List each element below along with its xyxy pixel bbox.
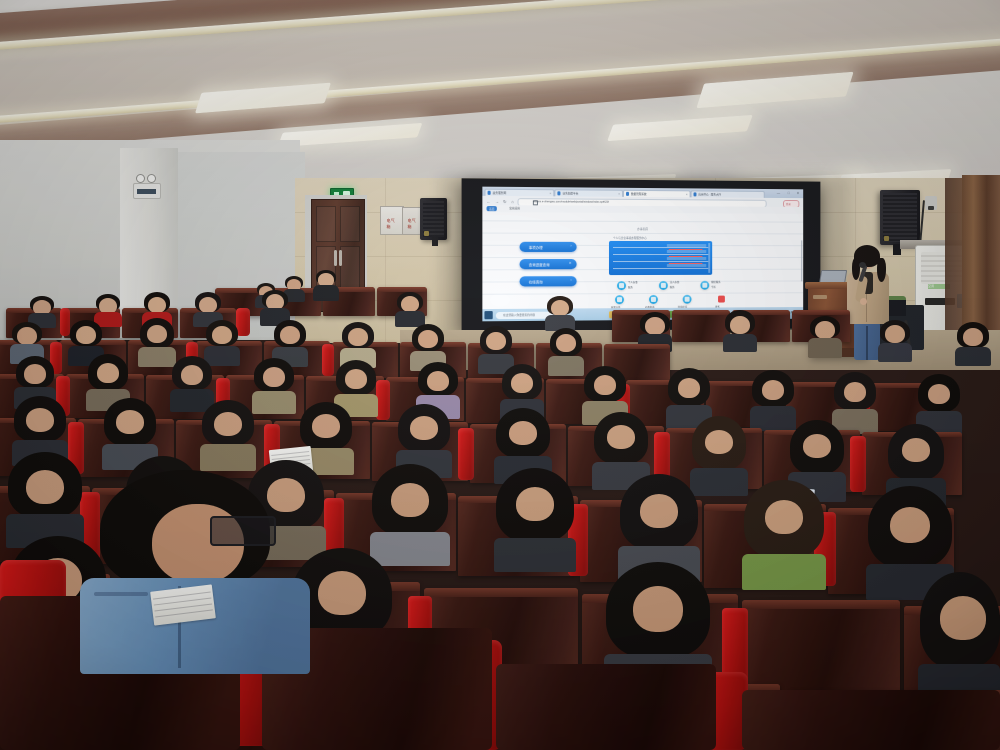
close-icon[interactable]: ×	[549, 191, 551, 195]
forward-icon[interactable]: →	[495, 199, 499, 204]
button-label: 在线咨询	[529, 279, 543, 284]
attendee	[313, 270, 339, 300]
service-label: 法人办事	[670, 280, 679, 284]
handheld-microphone	[859, 262, 866, 268]
electrical-box: 电气箱	[402, 207, 422, 235]
tab-title: 应用中心 · 服务大厅	[698, 192, 721, 196]
speaker-mount	[432, 237, 438, 246]
service-sublabel: 服务	[670, 285, 675, 289]
attendee	[395, 292, 425, 326]
service-icon-personal[interactable]	[617, 281, 626, 290]
seat-back-front	[742, 690, 1000, 750]
action-button-consult[interactable]: 在线咨询 ›	[520, 276, 577, 286]
action-button-handle[interactable]: 事项办理 ›	[520, 242, 577, 252]
chevron-right-icon: ›	[570, 279, 571, 283]
tab-favicon	[626, 192, 630, 196]
button-label: 查询进度查询	[529, 262, 550, 267]
button-label: 事项办理	[529, 244, 543, 249]
electrical-box-label: 电气箱	[387, 218, 398, 230]
service-sublabel: 服务	[628, 285, 633, 289]
close-window-icon[interactable]: ✕	[797, 191, 800, 195]
electrical-box: 电气箱	[380, 206, 404, 235]
highlighted-table[interactable]	[609, 241, 712, 275]
tab-title: 业务办理平台	[562, 191, 578, 195]
service-label: 个人办事	[628, 280, 638, 284]
foreground-attendee	[60, 470, 340, 670]
chevron-right-icon: ›	[570, 244, 571, 248]
close-icon[interactable]: ×	[686, 192, 688, 196]
tab-favicon	[693, 192, 696, 196]
auditorium-scene: 电气箱 电气箱 空调 政务服务网 ×	[0, 0, 1000, 750]
minimize-icon[interactable]: —	[777, 191, 780, 195]
url-text: edzwm.e-zhengwu.com/module/web/portal/wi…	[533, 200, 610, 204]
wall-gauge-panel	[133, 183, 161, 199]
bookmark-apps[interactable]: 常用应用	[509, 206, 520, 210]
ceiling-camera-icon	[925, 196, 937, 210]
card-header: 办事指南	[637, 227, 648, 231]
service-icon-convenience[interactable]	[700, 281, 709, 290]
tab-favicon	[557, 191, 561, 195]
tab-favicon	[487, 191, 491, 195]
service-sublabel: 专区	[711, 285, 716, 289]
ceiling-panel-light	[607, 115, 753, 141]
tab-title: 数据管理系统	[631, 191, 647, 195]
web-page-content: 事项办理 › 查询进度查询 ✕ 在线咨询 › 办事指南 个人与企业事项办理服务中…	[482, 212, 803, 309]
vertical-scrollbar[interactable]	[801, 240, 802, 281]
close-icon: ✕	[569, 261, 572, 265]
back-icon[interactable]: ←	[487, 199, 491, 204]
service-label: 便民服务	[711, 280, 720, 284]
profile-label: 登录	[786, 202, 791, 206]
attendee	[494, 468, 576, 570]
home-icon[interactable]: ⌂	[511, 199, 513, 204]
service-icon-legal[interactable]	[659, 281, 668, 290]
reload-icon[interactable]: ↻	[503, 199, 506, 204]
attendee	[545, 296, 575, 330]
wall-speaker-right	[880, 190, 920, 245]
electrical-box-label: 电气箱	[408, 218, 417, 230]
action-button-query[interactable]: 查询进度查询 ✕	[520, 259, 577, 269]
tab-title: 政务服务网	[493, 190, 506, 194]
attendee	[200, 400, 256, 468]
maximize-icon[interactable]: □	[788, 191, 790, 195]
table-caption: 个人与企业事项办理服务中心	[613, 236, 647, 240]
bookmark-home[interactable]: 首页	[487, 206, 498, 211]
close-icon[interactable]: ×	[618, 191, 620, 195]
seat-back-front	[496, 664, 716, 750]
